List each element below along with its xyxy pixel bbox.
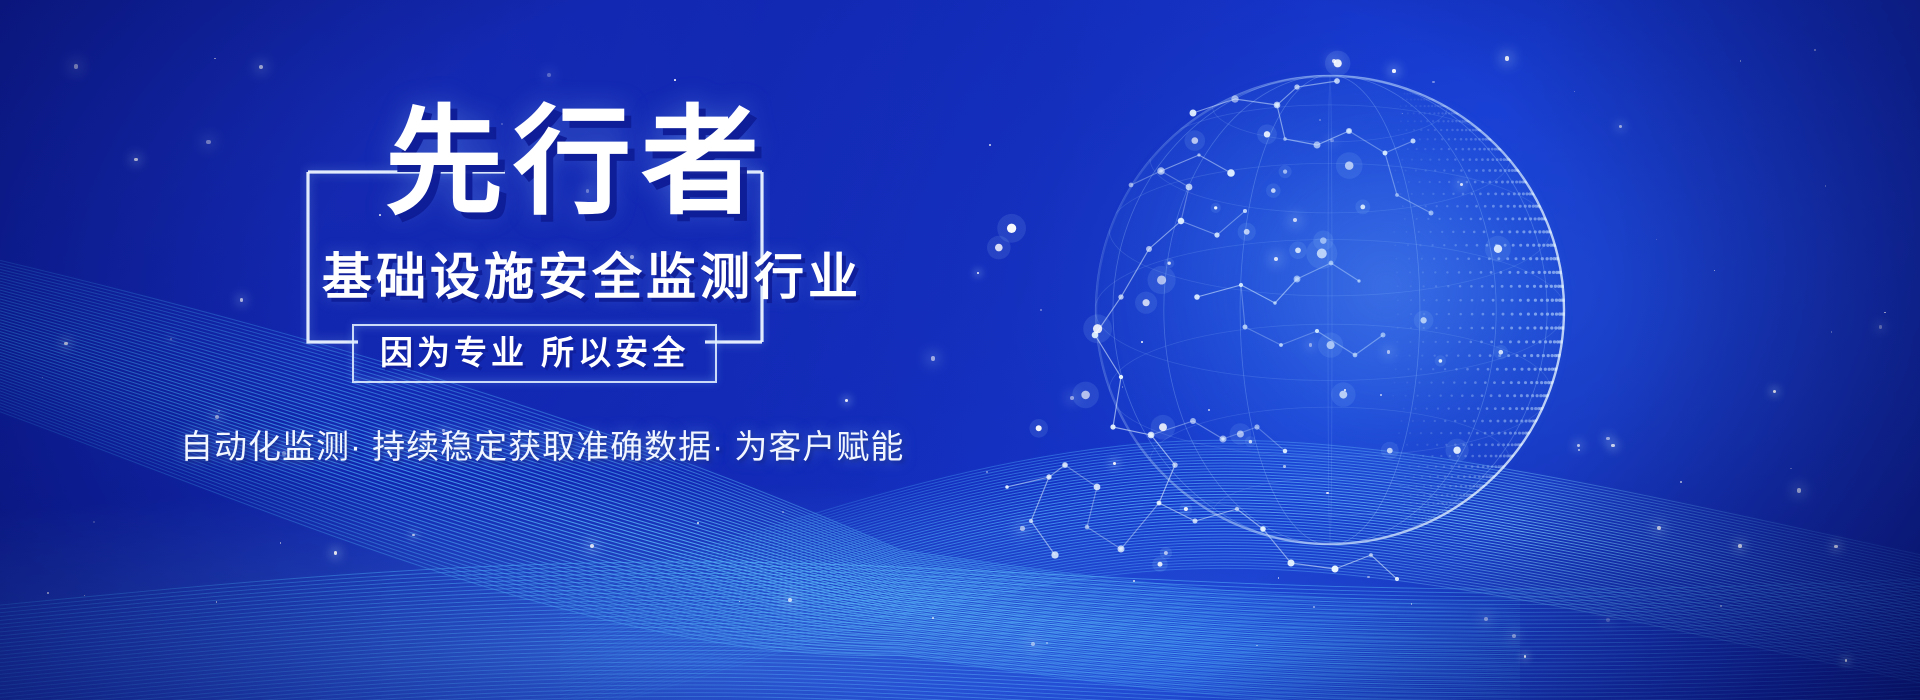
star-dot	[259, 65, 263, 69]
star-dot	[977, 272, 980, 275]
star-dot	[1797, 488, 1801, 492]
star-dot	[1460, 183, 1463, 186]
star-dot	[1332, 59, 1336, 63]
star-dot	[1512, 634, 1516, 638]
star-dot	[1484, 617, 1488, 621]
star-dot	[1256, 645, 1257, 646]
star-dot	[1319, 119, 1321, 121]
star-dot	[1714, 270, 1715, 271]
slogan-text: 因为专业 所以安全	[380, 336, 689, 369]
star-dot	[1293, 218, 1298, 223]
banner-content: 先行者 基础设施安全监测行业 因为专业 所以安全 自动化监测· 持续稳定获取准确…	[180, 70, 880, 450]
star-dot	[1611, 444, 1614, 447]
star-dot	[739, 601, 740, 602]
globe-svg	[945, 35, 1575, 665]
star-dot	[697, 522, 699, 524]
star-dot	[1814, 49, 1816, 51]
star-dot	[1834, 545, 1837, 548]
star-dot	[1505, 56, 1510, 61]
star-dot	[1387, 350, 1391, 354]
star-dot	[1367, 576, 1369, 578]
star-dot	[1720, 605, 1722, 607]
globe-graphic	[945, 35, 1575, 665]
globe-glow	[1095, 75, 1565, 545]
star-dot	[1680, 481, 1682, 483]
star-dot	[1278, 577, 1279, 578]
star-dot	[134, 158, 138, 162]
star-dot	[1046, 642, 1048, 644]
star-dot	[1740, 60, 1742, 62]
star-dot	[74, 64, 78, 68]
star-dot	[1283, 465, 1285, 467]
star-dot	[42, 377, 44, 379]
star-dot	[47, 592, 49, 594]
star-dot	[1606, 618, 1610, 622]
star-dot	[1606, 437, 1609, 440]
star-dot	[1656, 239, 1657, 240]
star-dot	[84, 595, 85, 596]
star-dot	[214, 58, 216, 60]
star-dot	[1344, 389, 1346, 391]
star-dot	[1326, 492, 1329, 495]
star-dot	[1313, 606, 1315, 608]
star-dot	[1790, 468, 1792, 470]
star-dot	[931, 356, 936, 361]
star-dot	[1657, 526, 1661, 530]
star-dot	[1577, 444, 1580, 447]
star-dot	[1831, 331, 1833, 333]
star-dot	[170, 338, 173, 341]
star-dot	[1578, 449, 1580, 451]
star-dot	[1773, 390, 1776, 393]
star-dot	[788, 598, 793, 603]
slogan-box: 因为专业 所以安全	[352, 324, 717, 383]
star-dot	[1040, 309, 1042, 311]
star-dot	[1330, 139, 1334, 143]
star-dot	[1380, 394, 1382, 396]
star-dot	[216, 601, 217, 602]
star-dot	[1208, 409, 1210, 411]
star-dot	[1738, 544, 1742, 548]
banner-tagline: 自动化监测· 持续稳定获取准确数据· 为客户赋能	[180, 430, 904, 463]
banner-subtitle: 基础设施安全监测行业	[322, 252, 862, 302]
page-title: 先行者	[385, 104, 769, 222]
hero-banner: 先行者 基础设施安全监测行业 因为专业 所以安全 自动化监测· 持续稳定获取准确…	[0, 0, 1920, 700]
star-dot	[1879, 325, 1882, 328]
star-dot	[334, 551, 338, 555]
star-dot	[1309, 343, 1312, 346]
star-dot	[1884, 312, 1886, 314]
star-dot	[1432, 81, 1435, 84]
star-dot	[782, 511, 784, 513]
star-dot	[1070, 396, 1074, 400]
star-dot	[1020, 526, 1024, 530]
star-dot	[1392, 69, 1396, 73]
star-dot	[1845, 659, 1848, 662]
star-dot	[1133, 580, 1135, 582]
star-dot	[989, 144, 991, 146]
star-dot	[932, 617, 934, 619]
star-dot	[590, 544, 594, 548]
star-dot	[1141, 341, 1143, 343]
star-dot	[1524, 655, 1527, 658]
star-dot	[1574, 91, 1575, 92]
star-dot	[64, 342, 67, 345]
star-dot	[93, 521, 96, 524]
star-dot	[1825, 185, 1827, 187]
star-dot	[1113, 462, 1116, 465]
star-dot	[1402, 113, 1404, 115]
star-dot	[280, 542, 281, 543]
star-dot	[1619, 125, 1622, 128]
star-dot	[1274, 257, 1278, 261]
star-dot	[1411, 603, 1412, 604]
star-dot	[412, 534, 415, 537]
star-dot	[986, 471, 988, 473]
star-dot	[1122, 386, 1124, 388]
star-dot	[1031, 642, 1035, 646]
